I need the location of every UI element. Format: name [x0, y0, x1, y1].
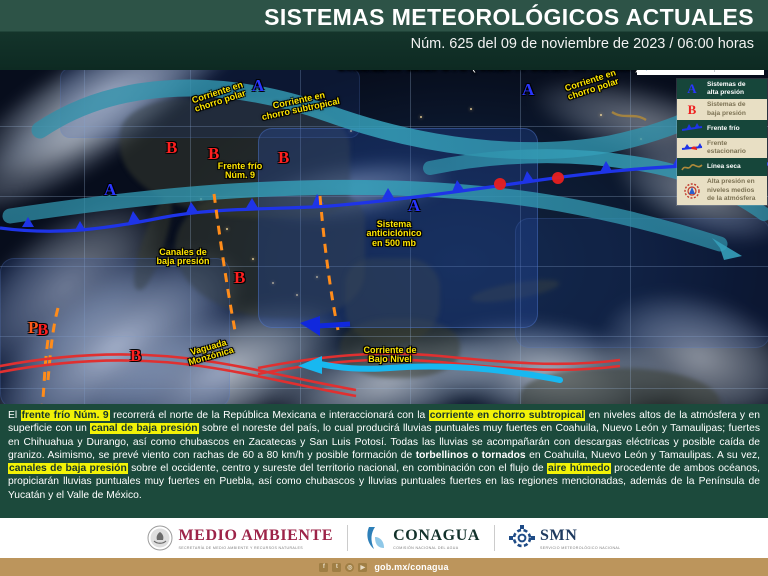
low-pressure-marker: B — [278, 148, 289, 168]
map-label-low-level-jet: Corriente de Bajo Nivel — [348, 346, 432, 365]
dry-line-path — [612, 112, 646, 120]
smn-spiral-icon — [509, 525, 535, 551]
bulletin-number-date: Núm. 625 del 09 de noviembre de 2023 / 0… — [411, 36, 754, 52]
footer-divider — [347, 525, 348, 551]
forecast-description: El frente frío Núm. 9 recorrerá el norte… — [0, 404, 768, 518]
legend-item-cold-front: Frente frío — [677, 120, 767, 138]
dry-line-icon — [680, 160, 704, 174]
high-pressure-marker: A — [522, 80, 534, 100]
legend-label: Sistemas de alta presión — [707, 81, 745, 97]
website-url[interactable]: gob.mx/conagua — [374, 562, 448, 572]
mexico-eagle-seal-icon — [147, 525, 173, 551]
facebook-icon[interactable]: f — [319, 563, 328, 572]
satellite-weather-map[interactable]: A A A A B B B B B B P Corriente en chorr… — [0, 68, 768, 404]
page-header: SISTEMAS METEOROLÓGICOS ACTUALES Núm. 62… — [0, 0, 768, 70]
footer-conagua-title: CONAGUA — [393, 527, 480, 545]
stationary-front-bump-icon — [552, 172, 564, 184]
high-pressure-marker: A — [104, 180, 116, 200]
cold-front-pip-icon — [186, 202, 198, 213]
footer-logo-bar: MEDIO AMBIENTE SECRETARÍA DE MEDIO AMBIE… — [0, 518, 768, 558]
footer-logo-medio-ambiente: MEDIO AMBIENTE SECRETARÍA DE MEDIO AMBIE… — [147, 525, 333, 551]
description-highlight: corriente en chorro subtropical — [429, 410, 586, 421]
cold-front-pip-icon — [74, 221, 86, 232]
low-pressure-marker: B — [234, 268, 245, 288]
legend-item-mid-level-high: Alta presión en niveles medios de la atm… — [677, 176, 767, 205]
legend-label: Sistemas de baja presión — [707, 101, 746, 117]
mid-level-high-icon — [680, 184, 704, 198]
page-title: SISTEMAS METEOROLÓGICOS ACTUALES — [264, 4, 754, 31]
description-segment: sobre el occidente, centro y sureste del… — [128, 463, 547, 474]
description-bold: torbellinos o tornados — [416, 450, 526, 461]
legend-item-dry-line: Línea seca — [677, 158, 767, 176]
high-pressure-marker: A — [252, 76, 264, 96]
low-pressure-channel-line — [42, 340, 48, 404]
footer-smn-title: SMN — [540, 527, 620, 545]
description-highlight: canal de baja presión — [90, 423, 198, 434]
youtube-icon[interactable]: ▶ — [358, 563, 367, 572]
legend-label: Línea seca — [707, 163, 741, 171]
low-pressure-channel-line — [320, 196, 338, 330]
footer-medio-ambiente-title: MEDIO AMBIENTE — [178, 527, 333, 545]
description-segment: recorrerá el norte de la República Mexic… — [110, 410, 429, 421]
legend-item-high-pressure: A Sistemas de alta presión — [677, 79, 767, 99]
legend-label: Frente frío — [707, 125, 740, 133]
map-label-anticyclonic-system: Sistema anticiclónico en 500 mb — [348, 220, 440, 248]
stationary-front-bump-icon — [494, 178, 506, 190]
description-highlight: aire húmedo — [547, 463, 611, 474]
description-segment: El — [8, 410, 21, 421]
high-pressure-letter-icon: A — [680, 82, 704, 96]
map-label-low-pressure-channels: Canales de baja presión — [142, 248, 224, 267]
description-highlight: frente frío Núm. 9 — [21, 410, 110, 421]
conagua-water-icon — [362, 525, 388, 551]
footer-conagua-subtitle: COMISIÓN NACIONAL DEL AGUA — [393, 546, 480, 550]
polar-jet-stream-path — [40, 88, 740, 151]
low-pressure-marker: B — [130, 346, 141, 366]
map-legend: A Sistemas de alta presión B Sistemas de… — [676, 78, 768, 206]
description-text: El frente frío Núm. 9 recorrerá el norte… — [8, 410, 760, 501]
legend-item-low-pressure: B Sistemas de baja presión — [677, 99, 767, 119]
footer-smn-subtitle: SERVICIO METEOROLÓGICO NACIONAL — [540, 546, 620, 550]
footer-logo-conagua: CONAGUA COMISIÓN NACIONAL DEL AGUA — [362, 525, 480, 551]
stationary-front-icon — [680, 141, 704, 155]
weather-bulletin-page: A A A A B B B B B B P Corriente en chorr… — [0, 0, 768, 576]
footer-logo-smn: SMN SERVICIO METEOROLÓGICO NACIONAL — [509, 525, 620, 551]
cold-front-pip-icon — [128, 211, 140, 223]
footer-divider — [494, 525, 495, 551]
cold-front-pip-icon — [522, 171, 534, 183]
low-pressure-channel-line — [48, 308, 58, 380]
description-segment: en Coahuila, Nuevo León y Tamaulipas. A … — [526, 450, 760, 461]
low-pressure-marker: P — [28, 318, 38, 338]
cold-front-pip-icon — [246, 198, 258, 208]
instagram-icon[interactable]: ◎ — [345, 563, 354, 572]
low-level-jet-line — [320, 364, 560, 380]
wind-arrow-icon — [300, 316, 320, 336]
wind-arrow-stem — [318, 324, 350, 326]
low-pressure-marker: B — [37, 320, 48, 340]
footer-social-bar: f t ◎ ▶ gob.mx/conagua — [0, 558, 768, 576]
cold-front-icon — [680, 122, 704, 136]
legend-label: Frente estacionario — [707, 140, 746, 156]
footer-medio-ambiente-subtitle: SECRETARÍA DE MEDIO AMBIENTE Y RECURSOS … — [178, 546, 333, 550]
low-pressure-marker: B — [208, 144, 219, 164]
high-pressure-marker-500mb: A — [408, 196, 420, 216]
legend-label: Alta presión en niveles medios de la atm… — [707, 178, 755, 203]
twitter-icon[interactable]: t — [332, 563, 341, 572]
low-pressure-marker: B — [166, 138, 177, 158]
legend-item-stationary-front: Frente estacionario — [677, 138, 767, 158]
low-pressure-letter-icon: B — [680, 103, 704, 117]
description-highlight: canales de baja presión — [8, 463, 128, 474]
map-label-cold-front-9: Frente frío Núm. 9 — [204, 162, 276, 181]
